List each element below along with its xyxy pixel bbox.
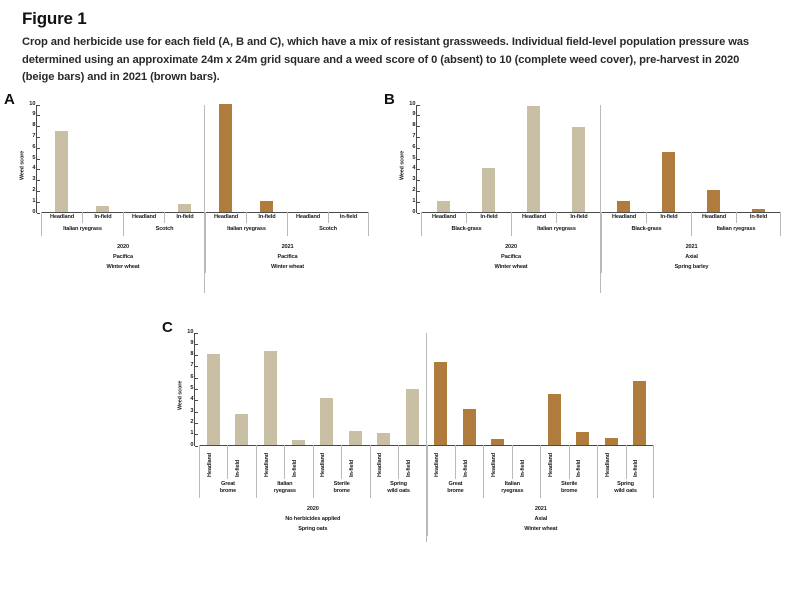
bar-slot <box>569 333 597 445</box>
y-tick-mark <box>37 115 40 116</box>
group-year: 2020 <box>421 242 601 252</box>
position-label: In-field <box>455 445 483 479</box>
position-label-row: HeadlandIn-fieldHeadlandIn-fieldHeadland… <box>421 212 781 224</box>
y-tick-mark <box>37 180 40 181</box>
year-group-divider <box>204 105 205 293</box>
panel-letter-b: B <box>384 91 395 108</box>
bar-slot <box>455 333 483 445</box>
species-label: Italian ryegrass <box>511 223 601 236</box>
bar <box>605 438 618 445</box>
bar <box>617 201 630 212</box>
group-year: 2021 <box>428 504 655 514</box>
position-label: Headland <box>483 445 511 479</box>
group-year: 2020 <box>199 504 427 514</box>
y-tick-mark <box>37 191 40 192</box>
bar <box>707 190 720 212</box>
species-label: Italian ryegrass <box>41 223 123 236</box>
bar-slot <box>41 105 82 212</box>
x-axis-labels: HeadlandIn-fieldHeadlandIn-fieldHeadland… <box>199 445 654 536</box>
bar-slot <box>370 333 398 445</box>
position-label-text: Headland <box>320 453 327 477</box>
position-label-text: In-field <box>463 459 470 476</box>
y-tick-mark <box>195 344 198 345</box>
panel-letter-c: C <box>162 319 173 336</box>
bar <box>463 409 476 444</box>
y-tick-mark <box>195 378 198 379</box>
year-group-divider <box>600 105 601 293</box>
species-label: Italian ryegrass <box>205 223 287 236</box>
position-label: In-field <box>82 212 123 224</box>
y-tick-mark <box>417 126 420 127</box>
group-crop: Spring oats <box>199 524 427 534</box>
species-label: Black-grass <box>421 223 511 236</box>
bar-slot <box>483 333 511 445</box>
species-label: Greatbrome <box>427 479 484 499</box>
position-label: Headland <box>601 212 646 224</box>
species-label: Greatbrome <box>199 479 256 499</box>
bars-plot: HeadlandIn-fieldHeadlandIn-fieldHeadland… <box>421 105 781 213</box>
group-crop: Winter wheat <box>41 262 205 272</box>
species-label: Italian ryegrass <box>691 223 781 236</box>
bar-slot <box>427 333 455 445</box>
bar <box>406 389 419 444</box>
bar <box>264 351 277 445</box>
bar <box>219 104 232 212</box>
position-label-text: In-field <box>349 459 356 476</box>
y-tick-mark <box>417 137 420 138</box>
y-tick-label: 10 <box>187 330 193 336</box>
bar <box>662 152 675 211</box>
position-label-text: Headland <box>548 453 555 477</box>
position-label: In-field <box>466 212 511 224</box>
y-tick-mark <box>195 366 198 367</box>
bar <box>527 106 540 212</box>
y-tick-mark <box>417 213 420 214</box>
plot-area-c: Weed score012345678910HeadlandIn-fieldHe… <box>176 333 654 446</box>
figure-header: Figure 1 Crop and herbicide use for each… <box>0 0 790 87</box>
position-label: Headland <box>370 445 398 479</box>
position-label: In-field <box>398 445 426 479</box>
group-herbicide: Pacifica <box>41 252 205 262</box>
position-label-text: In-field <box>235 459 242 476</box>
bar-slot <box>287 105 328 212</box>
group-crop: Winter wheat <box>428 524 655 534</box>
bar-slot <box>164 105 205 212</box>
y-tick-mark <box>417 191 420 192</box>
species-label: Springwild oats <box>597 479 654 499</box>
y-tick-mark <box>417 169 420 170</box>
position-label: Headland <box>256 445 284 479</box>
y-tick-mark <box>417 115 420 116</box>
position-label: In-field <box>556 212 601 224</box>
bar-slot <box>246 105 287 212</box>
y-tick-mark <box>195 412 198 413</box>
group-meta: 2021AxialSpring barley <box>601 236 781 274</box>
bar-slot <box>328 105 369 212</box>
bar-slot <box>284 333 312 445</box>
position-label: In-field <box>569 445 597 479</box>
position-label-text: In-field <box>292 459 299 476</box>
group-year: 2021 <box>206 242 369 252</box>
y-tick-mark <box>195 423 198 424</box>
y-tick-mark <box>37 148 40 149</box>
x-axis-labels: HeadlandIn-fieldHeadlandIn-fieldHeadland… <box>421 212 781 274</box>
bars-plot: HeadlandIn-fieldHeadlandIn-fieldHeadland… <box>199 333 654 446</box>
y-tick-mark <box>195 434 198 435</box>
bar-slot <box>691 105 736 212</box>
position-label: In-field <box>736 212 781 224</box>
bar-slot <box>511 105 556 212</box>
y-tick-mark <box>195 333 198 334</box>
group-herbicide: Pacifica <box>206 252 369 262</box>
position-label: In-field <box>246 212 287 224</box>
bar-slot <box>626 333 654 445</box>
position-label-row: HeadlandIn-fieldHeadlandIn-fieldHeadland… <box>199 445 654 479</box>
group-meta: 2020No herbicides appliedSpring oats <box>199 498 427 536</box>
species-label: Black-grass <box>601 223 691 236</box>
bar-slot <box>341 333 369 445</box>
bar <box>437 201 450 212</box>
position-label-text: In-field <box>520 459 527 476</box>
species-label: Scotch <box>123 223 205 236</box>
y-axis-label: Weed score <box>18 105 27 213</box>
position-label: In-field <box>227 445 255 479</box>
species-label: Sterilebrome <box>313 479 370 499</box>
bar <box>434 362 447 444</box>
position-label: Headland <box>597 445 625 479</box>
species-label-row: GreatbromeItalianryegrassSterilebromeSpr… <box>199 479 654 499</box>
y-tick-mark <box>195 446 198 447</box>
species-label-row: Black-grassItalian ryegrassBlack-grassIt… <box>421 223 781 236</box>
y-tick-mark <box>417 148 420 149</box>
y-tick-mark <box>195 400 198 401</box>
bar-slot <box>313 333 341 445</box>
bar <box>55 131 68 212</box>
species-label: Italianryegrass <box>256 479 313 499</box>
group-meta: 2021AxialWinter wheat <box>427 498 655 536</box>
position-label: In-field <box>512 445 540 479</box>
y-tick-mark <box>417 180 420 181</box>
y-tick-mark <box>417 202 420 203</box>
position-label: Headland <box>427 445 455 479</box>
group-herbicide: Axial <box>428 514 655 524</box>
bar <box>633 381 646 444</box>
bar-slot <box>512 333 540 445</box>
species-label: Springwild oats <box>370 479 427 499</box>
position-label: Headland <box>540 445 568 479</box>
group-meta: 2020PacificaWinter wheat <box>421 236 601 274</box>
position-label-text: In-field <box>633 459 640 476</box>
position-label: Headland <box>41 212 82 224</box>
position-label: Headland <box>205 212 246 224</box>
position-label-text: Headland <box>605 453 612 477</box>
position-label: Headland <box>199 445 227 479</box>
position-label: In-field <box>341 445 369 479</box>
position-label: In-field <box>164 212 205 224</box>
bar <box>178 204 191 212</box>
position-label: Headland <box>313 445 341 479</box>
bar-slot <box>601 105 646 212</box>
position-label-text: Headland <box>207 453 214 477</box>
bar-slot <box>205 105 246 212</box>
bar <box>572 127 585 211</box>
position-label-text: In-field <box>406 459 413 476</box>
position-label-text: Headland <box>491 453 498 477</box>
position-label-row: HeadlandIn-fieldHeadlandIn-fieldHeadland… <box>41 212 369 224</box>
group-crop: Winter wheat <box>206 262 369 272</box>
bar-slot <box>646 105 691 212</box>
species-label: Italianryegrass <box>483 479 540 499</box>
group-crop: Spring barley <box>602 262 781 272</box>
bar <box>377 433 390 444</box>
position-label-text: Headland <box>377 453 384 477</box>
bar <box>260 201 273 212</box>
figure-caption: Crop and herbicide use for each field (A… <box>22 34 767 87</box>
bar <box>207 354 220 444</box>
position-label-text: Headland <box>434 453 441 477</box>
year-group-divider <box>426 333 427 542</box>
bar-slot <box>556 105 601 212</box>
bar-slot <box>398 333 426 445</box>
group-meta: 2020PacificaWinter wheat <box>41 236 205 274</box>
group-year: 2020 <box>41 242 205 252</box>
bar-slot <box>199 333 227 445</box>
bar-slot <box>123 105 164 212</box>
position-label: Headland <box>421 212 466 224</box>
bar-slot <box>82 105 123 212</box>
y-tick-label: 10 <box>29 102 35 108</box>
bar-slot <box>540 333 568 445</box>
y-tick-mark <box>37 202 40 203</box>
bar-slot <box>227 333 255 445</box>
bars-plot: HeadlandIn-fieldHeadlandIn-fieldHeadland… <box>41 105 369 213</box>
bar-slot <box>421 105 466 212</box>
y-axis-label: Weed score <box>398 105 407 213</box>
bar <box>482 168 495 211</box>
species-label: Scotch <box>287 223 369 236</box>
position-label: Headland <box>123 212 164 224</box>
species-label-row: Italian ryegrassScotchItalian ryegrassSc… <box>41 223 369 236</box>
y-tick-mark <box>37 137 40 138</box>
x-axis-labels: HeadlandIn-fieldHeadlandIn-fieldHeadland… <box>41 212 369 274</box>
plot-area-b: Weed score012345678910HeadlandIn-fieldHe… <box>398 105 781 213</box>
panel-letter-a: A <box>4 91 15 108</box>
group-meta-row: 2020PacificaWinter wheat2021AxialSpring … <box>421 236 781 274</box>
position-label: In-field <box>646 212 691 224</box>
y-tick-mark <box>417 105 420 106</box>
group-meta: 2021PacificaWinter wheat <box>205 236 369 274</box>
group-herbicide: Pacifica <box>421 252 601 262</box>
y-tick-mark <box>37 159 40 160</box>
bar-slot <box>736 105 781 212</box>
panels-container: AWeed score012345678910HeadlandIn-fieldH… <box>0 87 790 582</box>
y-tick-mark <box>195 389 198 390</box>
bar-slot <box>466 105 511 212</box>
group-herbicide: Axial <box>602 252 781 262</box>
bar <box>576 432 589 444</box>
figure-title: Figure 1 <box>22 9 768 29</box>
group-year: 2021 <box>602 242 781 252</box>
bar <box>320 398 333 444</box>
group-meta-row: 2020PacificaWinter wheat2021PacificaWint… <box>41 236 369 274</box>
group-herbicide: No herbicides applied <box>199 514 427 524</box>
y-tick-mark <box>37 126 40 127</box>
bar <box>548 394 561 445</box>
position-label: In-field <box>626 445 654 479</box>
y-tick-mark <box>37 105 40 106</box>
y-tick-mark <box>37 213 40 214</box>
y-tick-mark <box>37 169 40 170</box>
group-crop: Winter wheat <box>421 262 601 272</box>
plot-area-a: Weed score012345678910HeadlandIn-fieldHe… <box>18 105 369 213</box>
species-label: Sterilebrome <box>540 479 597 499</box>
y-axis-ticks: 012345678910 <box>27 105 36 213</box>
bar <box>235 414 248 445</box>
position-label: In-field <box>328 212 369 224</box>
y-axis-ticks: 012345678910 <box>185 333 194 446</box>
position-label: Headland <box>287 212 328 224</box>
y-axis-label: Weed score <box>176 333 185 446</box>
y-axis-ticks: 012345678910 <box>407 105 416 213</box>
bar-slot <box>256 333 284 445</box>
position-label: Headland <box>511 212 556 224</box>
group-meta-row: 2020No herbicides appliedSpring oats2021… <box>199 498 654 536</box>
y-tick-label: 10 <box>409 102 415 108</box>
position-label: In-field <box>284 445 312 479</box>
position-label-text: In-field <box>576 459 583 476</box>
bar <box>349 431 362 445</box>
bar-slot <box>597 333 625 445</box>
y-tick-mark <box>417 159 420 160</box>
y-tick-mark <box>195 355 198 356</box>
position-label: Headland <box>691 212 736 224</box>
position-label-text: Headland <box>264 453 271 477</box>
